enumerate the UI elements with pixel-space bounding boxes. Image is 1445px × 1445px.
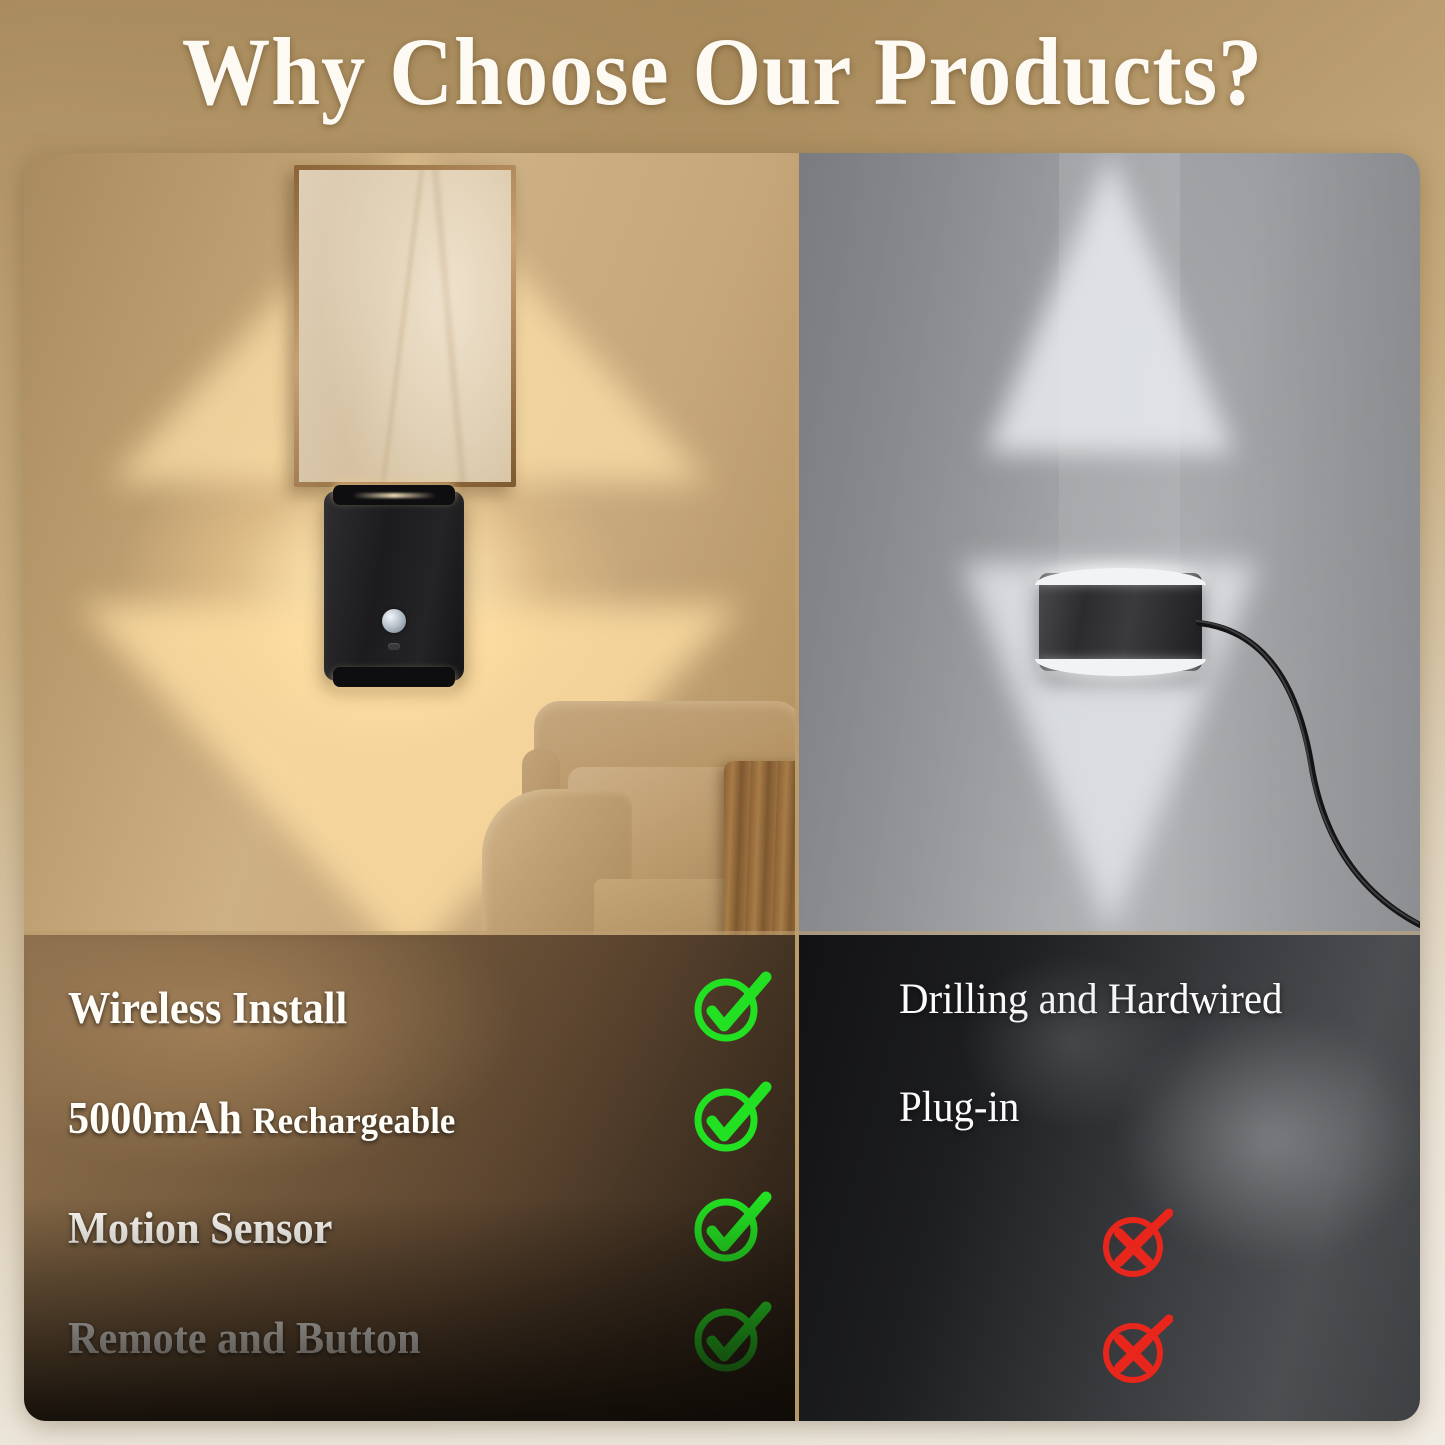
lamp-bottom-cap [333, 667, 455, 687]
feature-label: Remote and Button [68, 1312, 421, 1364]
feature-label: 5000mAh Rechargeable [68, 1092, 455, 1144]
list-item: Motion Sensor [68, 1191, 758, 1265]
panel-wireless-room-photo [24, 153, 795, 935]
drawback-label: Drilling and Hardwired [899, 975, 1282, 1024]
comparison-card: Wireless Install 5000mAh Rechargeable [24, 153, 1420, 1421]
feature-capacity: 5000mAh [68, 1093, 242, 1143]
framed-artwork [294, 165, 516, 487]
motion-sensor-icon [382, 609, 406, 633]
panel-product-advantages: Wireless Install 5000mAh Rechargeable [24, 935, 795, 1421]
panel-horizontal-divider [24, 931, 1420, 935]
cross-circle-icon [1099, 1207, 1173, 1281]
panel-competitor-drawbacks: Drilling and Hardwired Plug-in [799, 935, 1420, 1421]
list-item: Remote and Button [68, 1301, 758, 1375]
panel-vertical-divider [795, 153, 799, 1421]
check-circle-icon [688, 1301, 772, 1375]
drawback-label: Plug-in [899, 1083, 1019, 1132]
lamp-top-light-slit [352, 493, 436, 498]
feature-label: Motion Sensor [68, 1202, 332, 1254]
check-circle-icon [688, 971, 772, 1045]
check-circle-icon [688, 1191, 772, 1265]
feature-label: Wireless Install [68, 982, 347, 1034]
panel-corded-wall-photo [799, 153, 1420, 935]
list-item: Drilling and Hardwired [899, 975, 1399, 1024]
artwork-canvas [299, 170, 511, 482]
feature-capacity-suffix: Rechargeable [252, 1101, 455, 1142]
upward-light-cone [986, 153, 1234, 453]
infographic-canvas: Why Choose Our Products? [0, 0, 1445, 1445]
wireless-wall-lamp [324, 491, 464, 681]
hardwired-wall-lamp [1039, 573, 1202, 671]
woven-throw-pillow [724, 761, 795, 935]
power-button-icon [388, 643, 400, 650]
list-item: Plug-in [899, 1083, 1399, 1132]
page-title: Why Choose Our Products? [58, 22, 1387, 123]
list-item: Wireless Install [68, 971, 758, 1045]
cross-circle-icon [1099, 1313, 1173, 1387]
check-circle-icon [688, 1081, 772, 1155]
list-item: 5000mAh Rechargeable [68, 1081, 758, 1155]
feature-list: Wireless Install 5000mAh Rechargeable [24, 935, 795, 1421]
